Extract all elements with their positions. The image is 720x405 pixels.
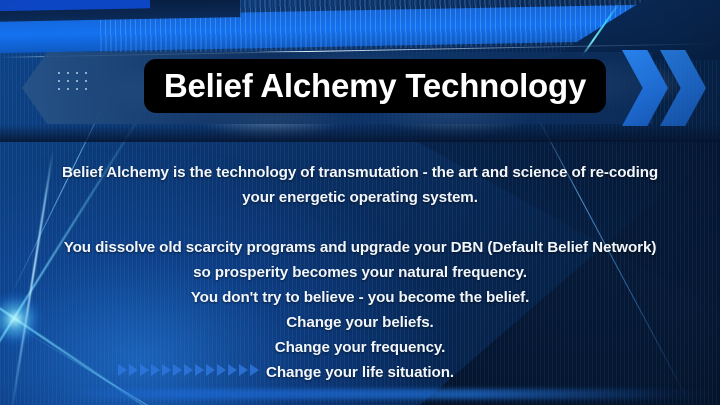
dot — [85, 80, 87, 82]
dot — [67, 72, 69, 74]
page-title: Belief Alchemy Technology — [164, 67, 586, 105]
dot — [58, 80, 60, 82]
body-line: You don't try to believe - you become th… — [0, 285, 720, 310]
body-text-block: Belief Alchemy is the technology of tran… — [0, 160, 720, 385]
dot — [76, 88, 78, 90]
dot — [58, 88, 60, 90]
body-line: Change your beliefs. — [0, 310, 720, 335]
dot — [76, 80, 78, 82]
dot — [67, 88, 69, 90]
body-line: Change your life situation. — [0, 360, 720, 385]
header-bottom-shade — [0, 124, 720, 142]
dot — [67, 80, 69, 82]
dot-grid-icon — [58, 72, 94, 96]
body-line: Belief Alchemy is the technology of tran… — [0, 160, 720, 185]
body-line: You dissolve old scarcity programs and u… — [0, 235, 720, 260]
bottom-accent-bar — [60, 389, 720, 399]
dot — [76, 72, 78, 74]
dot — [58, 72, 60, 74]
body-line: Change your frequency. — [0, 335, 720, 360]
slide-canvas: Belief Alchemy Technology Belief Alchemy… — [0, 0, 720, 405]
body-line: your energetic operating system. — [0, 185, 720, 210]
body-line: so prosperity becomes your natural frequ… — [0, 260, 720, 285]
dot — [85, 88, 87, 90]
title-pill: Belief Alchemy Technology — [144, 59, 606, 113]
dot — [85, 72, 87, 74]
paragraph-spacer — [0, 210, 720, 235]
